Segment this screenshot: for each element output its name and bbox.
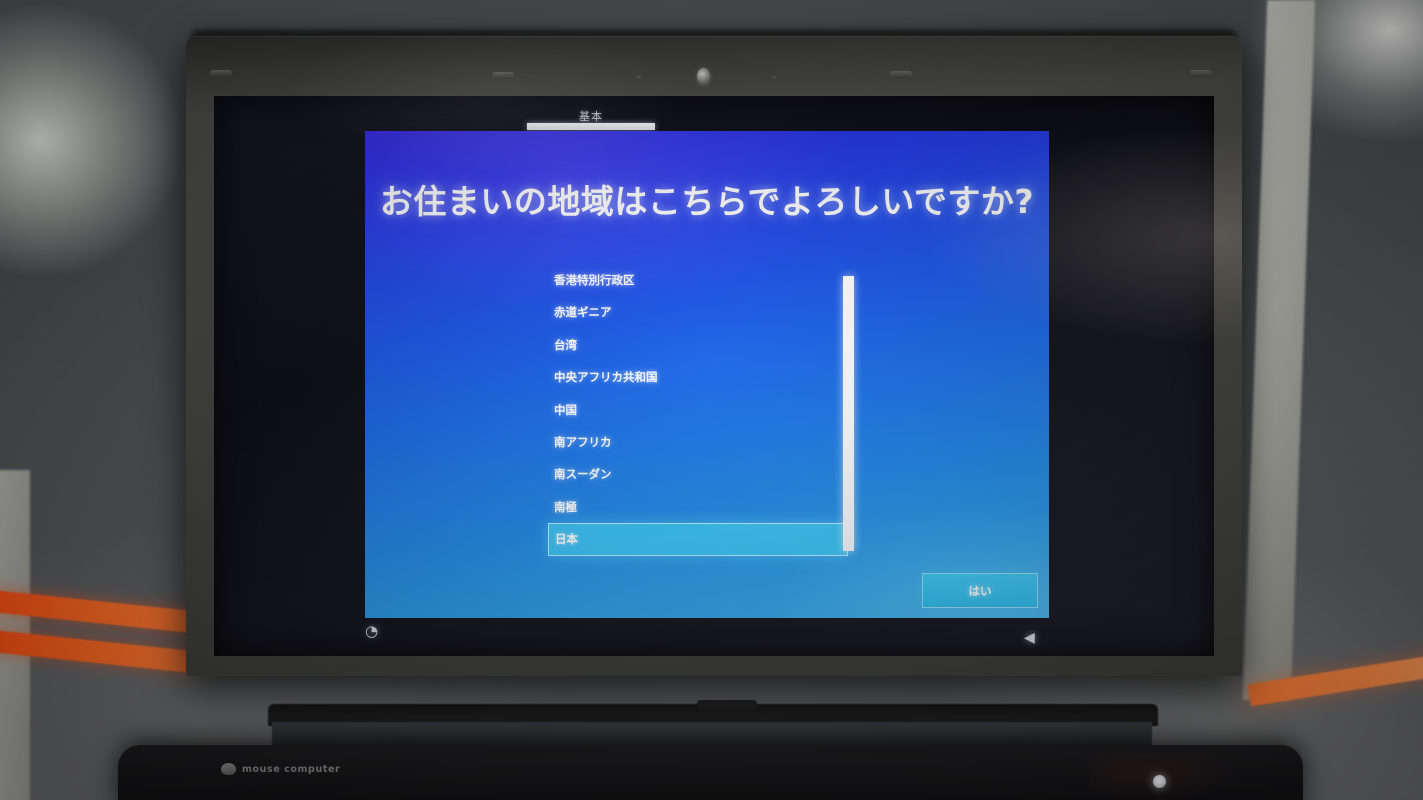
camera-led-left [637, 75, 641, 79]
tab-basic-underline [527, 123, 655, 130]
region-list-scrollbar[interactable] [843, 276, 854, 551]
brand-logo-icon [221, 763, 236, 775]
bezel-vent-right [1190, 70, 1212, 77]
photo-scene: 基本 お住まいの地域はこちらでよろしいですか? 香港特別行政区赤道ギニア台湾中央… [0, 0, 1423, 800]
laptop-brand: mouse computer [221, 763, 340, 775]
oobe-region-dialog: お住まいの地域はこちらでよろしいですか? 香港特別行政区赤道ギニア台湾中央アフリ… [365, 131, 1049, 618]
bezel-vent-center-left [492, 72, 514, 79]
confirm-yes-button[interactable]: はい [922, 573, 1038, 608]
laptop-hinge-nub [697, 700, 757, 710]
region-list-item[interactable]: 台湾 [548, 331, 848, 359]
base-shadow [1090, 752, 1290, 800]
region-list-item-selected[interactable]: 日本 [548, 523, 848, 556]
region-list-item[interactable]: 赤道ギニア [548, 298, 848, 326]
region-list-item[interactable]: 中央アフリカ共和国 [548, 363, 848, 391]
camera-led-right [772, 75, 776, 79]
bezel-vent-left [210, 70, 232, 77]
power-led-icon [1153, 775, 1166, 788]
region-list-item[interactable]: 南極 [548, 493, 848, 521]
region-list-item[interactable]: 南アフリカ [548, 428, 848, 456]
region-list-item[interactable]: 中国 [548, 396, 848, 424]
tab-basic-label: 基本 [527, 108, 655, 124]
brand-name: mouse computer [242, 764, 340, 775]
bezel-vent-center-right [890, 71, 912, 78]
page-title: お住まいの地域はこちらでよろしいですか? [365, 175, 1049, 223]
region-list[interactable]: 香港特別行政区赤道ギニア台湾中央アフリカ共和国中国南アフリカ南スーダン南極日本 [548, 266, 848, 554]
region-list-item[interactable]: 香港特別行政区 [548, 266, 848, 294]
volume-icon[interactable]: ◀ [1024, 631, 1035, 645]
ease-of-access-icon[interactable]: ◔ [365, 624, 378, 639]
region-list-item[interactable]: 南スーダン [548, 460, 848, 488]
webcam-icon [697, 68, 710, 85]
